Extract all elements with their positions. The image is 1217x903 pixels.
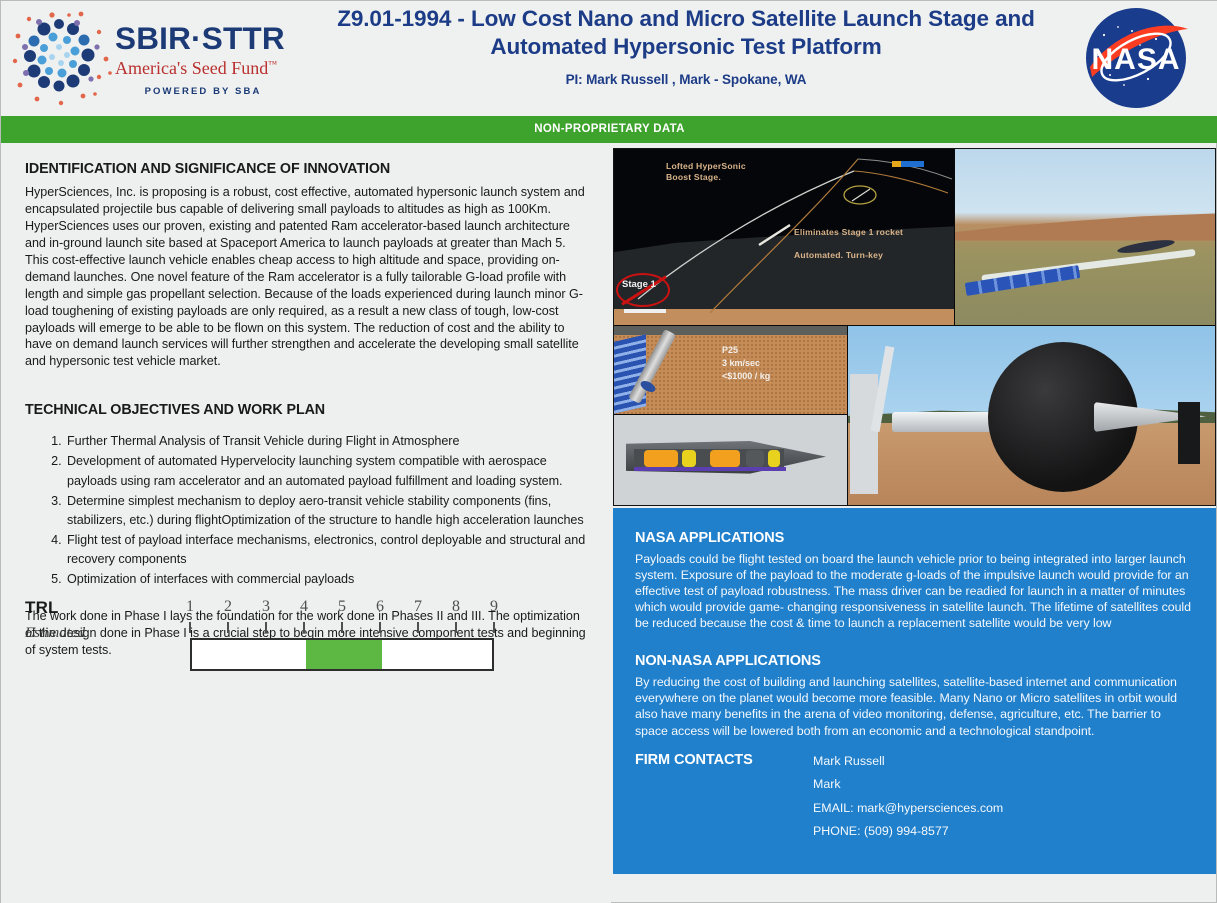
trl-tick-mark-8	[455, 622, 457, 633]
nasa-logo-icon: NASA	[1070, 5, 1202, 112]
technical-objectives-heading: TECHNICAL OBJECTIVES AND WORK PLAN	[25, 402, 589, 418]
tube-ground-surface	[614, 326, 847, 335]
trl-tick-mark-6	[379, 622, 381, 633]
trl-tick-mark-9	[493, 622, 495, 633]
tube-spec-speed: 3 km/sec	[722, 357, 770, 370]
sbir-wordmark: SBIR·STTR America's Seed Fund™ POWERED B…	[115, 23, 297, 97]
applications-panel: NASA APPLICATIONS Payloads could be flig…	[613, 508, 1216, 874]
payload-module-yellow-1	[682, 450, 696, 467]
trl-tick-mark-5	[341, 622, 343, 633]
trademark-symbol: ™	[268, 59, 277, 69]
non-proprietary-banner: NON-PROPRIETARY DATA	[1, 116, 1217, 143]
trl-tick-mark-2	[227, 622, 229, 633]
trajectory-label-eliminates-stage1: Eliminates Stage 1 rocket	[794, 227, 903, 238]
tube-spec-p25: P25	[722, 344, 770, 357]
rocket-projectile-photo	[848, 326, 1216, 506]
list-item: Determine simplest mechanism to deploy a…	[65, 492, 589, 530]
sbir-logo-tagline: America's Seed Fund™	[115, 59, 297, 77]
contact-phone[interactable]: PHONE: (509) 994-8577	[813, 820, 1003, 844]
trl-scale: 123456789	[166, 598, 486, 703]
contact-name: Mark Russell	[813, 750, 1003, 774]
tube-spec-cost: <$1000 / kg	[722, 370, 770, 383]
trajectory-label-stage1: Stage 1	[622, 279, 656, 290]
list-item: Flight test of payload interface mechani…	[65, 531, 589, 569]
left-column: IDENTIFICATION AND SIGNIFICANCE OF INNOV…	[1, 143, 611, 903]
principal-investigator-line: PI: Mark Russell , Mark - Spokane, WA	[286, 72, 1086, 87]
trl-tick-mark-3	[265, 622, 267, 633]
trl-tick-label-9: 9	[484, 598, 504, 616]
non-nasa-applications-body: By reducing the cost of building and lau…	[635, 674, 1196, 738]
banner-label: NON-PROPRIETARY DATA	[1, 116, 1217, 143]
contact-email[interactable]: EMAIL: mark@hypersciences.com	[813, 797, 1003, 821]
sbir-sttr-logo: SBIR·STTR America's Seed Fund™ POWERED B…	[9, 7, 299, 111]
identification-section-body: HyperSciences, Inc. is proposing is a ro…	[25, 184, 589, 370]
trl-block: TRL Estimated 123456789	[25, 598, 585, 718]
trl-tick-label-2: 2	[218, 598, 238, 616]
payload-module-yellow-2	[768, 450, 780, 467]
svg-text:NASA: NASA	[1091, 43, 1180, 76]
trl-tick-label-5: 5	[332, 598, 352, 616]
title-block: Z9.01-1994 - Low Cost Nano and Micro Sat…	[286, 5, 1086, 87]
desert-launch-site-photo	[955, 149, 1216, 325]
inground-launch-tube-diagram: P25 3 km/sec <$1000 / kg	[614, 326, 847, 414]
diagram-white-bar	[624, 309, 666, 313]
page-title: Z9.01-1994 - Low Cost Nano and Micro Sat…	[286, 5, 1086, 62]
payload-module-orange-2	[710, 450, 740, 467]
trl-tick-label-6: 6	[370, 598, 390, 616]
objectives-list: Further Thermal Analysis of Transit Vehi…	[25, 432, 589, 589]
photo-black-post	[1178, 402, 1200, 464]
trajectory-diagram-image: Lofted HyperSonic Boost Stage. Eliminate…	[614, 149, 954, 325]
list-item: Development of automated Hypervelocity l…	[65, 452, 589, 490]
trl-tick-label-8: 8	[446, 598, 466, 616]
right-column: Lofted HyperSonic Boost Stage. Eliminate…	[611, 143, 1217, 903]
sbir-logo-powered-by: POWERED BY SBA	[115, 86, 291, 97]
firm-contacts-details: Mark Russell Mark EMAIL: mark@hyperscien…	[813, 750, 1003, 844]
trl-tick-label-7: 7	[408, 598, 428, 616]
trajectory-label-automated-turnkey: Automated. Turn-key	[794, 250, 883, 261]
list-item: Optimization of interfaces with commerci…	[65, 570, 589, 589]
projectile-rail	[634, 467, 786, 471]
trl-bar-track	[190, 638, 494, 671]
trl-tick-mark-4	[303, 622, 305, 633]
image-collage: Lofted HyperSonic Boost Stage. Eliminate…	[613, 148, 1216, 506]
payload-module-orange-1	[644, 450, 678, 467]
poster-root: SBIR·STTR America's Seed Fund™ POWERED B…	[0, 0, 1217, 903]
non-nasa-applications-heading: NON-NASA APPLICATIONS	[635, 653, 1196, 669]
sbir-burst-icon	[11, 9, 119, 109]
photo-support-mast	[850, 374, 878, 494]
projectile-cutaway-render	[614, 415, 847, 506]
list-item: Further Thermal Analysis of Transit Vehi…	[65, 432, 589, 451]
payload-module-grey	[746, 450, 764, 467]
trl-tick-label-3: 3	[256, 598, 276, 616]
nasa-applications-body: Payloads could be flight tested on board…	[635, 551, 1196, 631]
firm-contacts-heading: FIRM CONTACTS	[635, 752, 753, 768]
nasa-applications-heading: NASA APPLICATIONS	[635, 530, 1196, 546]
poster-header: SBIR·STTR America's Seed Fund™ POWERED B…	[1, 1, 1217, 116]
trl-tick-mark-1	[189, 622, 191, 633]
sbir-logo-main-text: SBIR·STTR	[115, 23, 297, 55]
trl-tick-label-1: 1	[180, 598, 200, 616]
trajectory-label-boost-stage: Lofted HyperSonic Boost Stage.	[666, 161, 746, 182]
trl-tick-mark-7	[417, 622, 419, 633]
trl-bar-fill	[306, 640, 382, 669]
tube-spec-labels: P25 3 km/sec <$1000 / kg	[722, 344, 770, 383]
contact-firm: Mark	[813, 773, 1003, 797]
identification-section-heading: IDENTIFICATION AND SIGNIFICANCE OF INNOV…	[25, 161, 589, 177]
trl-tick-label-4: 4	[294, 598, 314, 616]
firm-contacts-section: FIRM CONTACTS Mark Russell Mark EMAIL: m…	[635, 752, 1196, 848]
photo-ridge	[955, 212, 1216, 240]
